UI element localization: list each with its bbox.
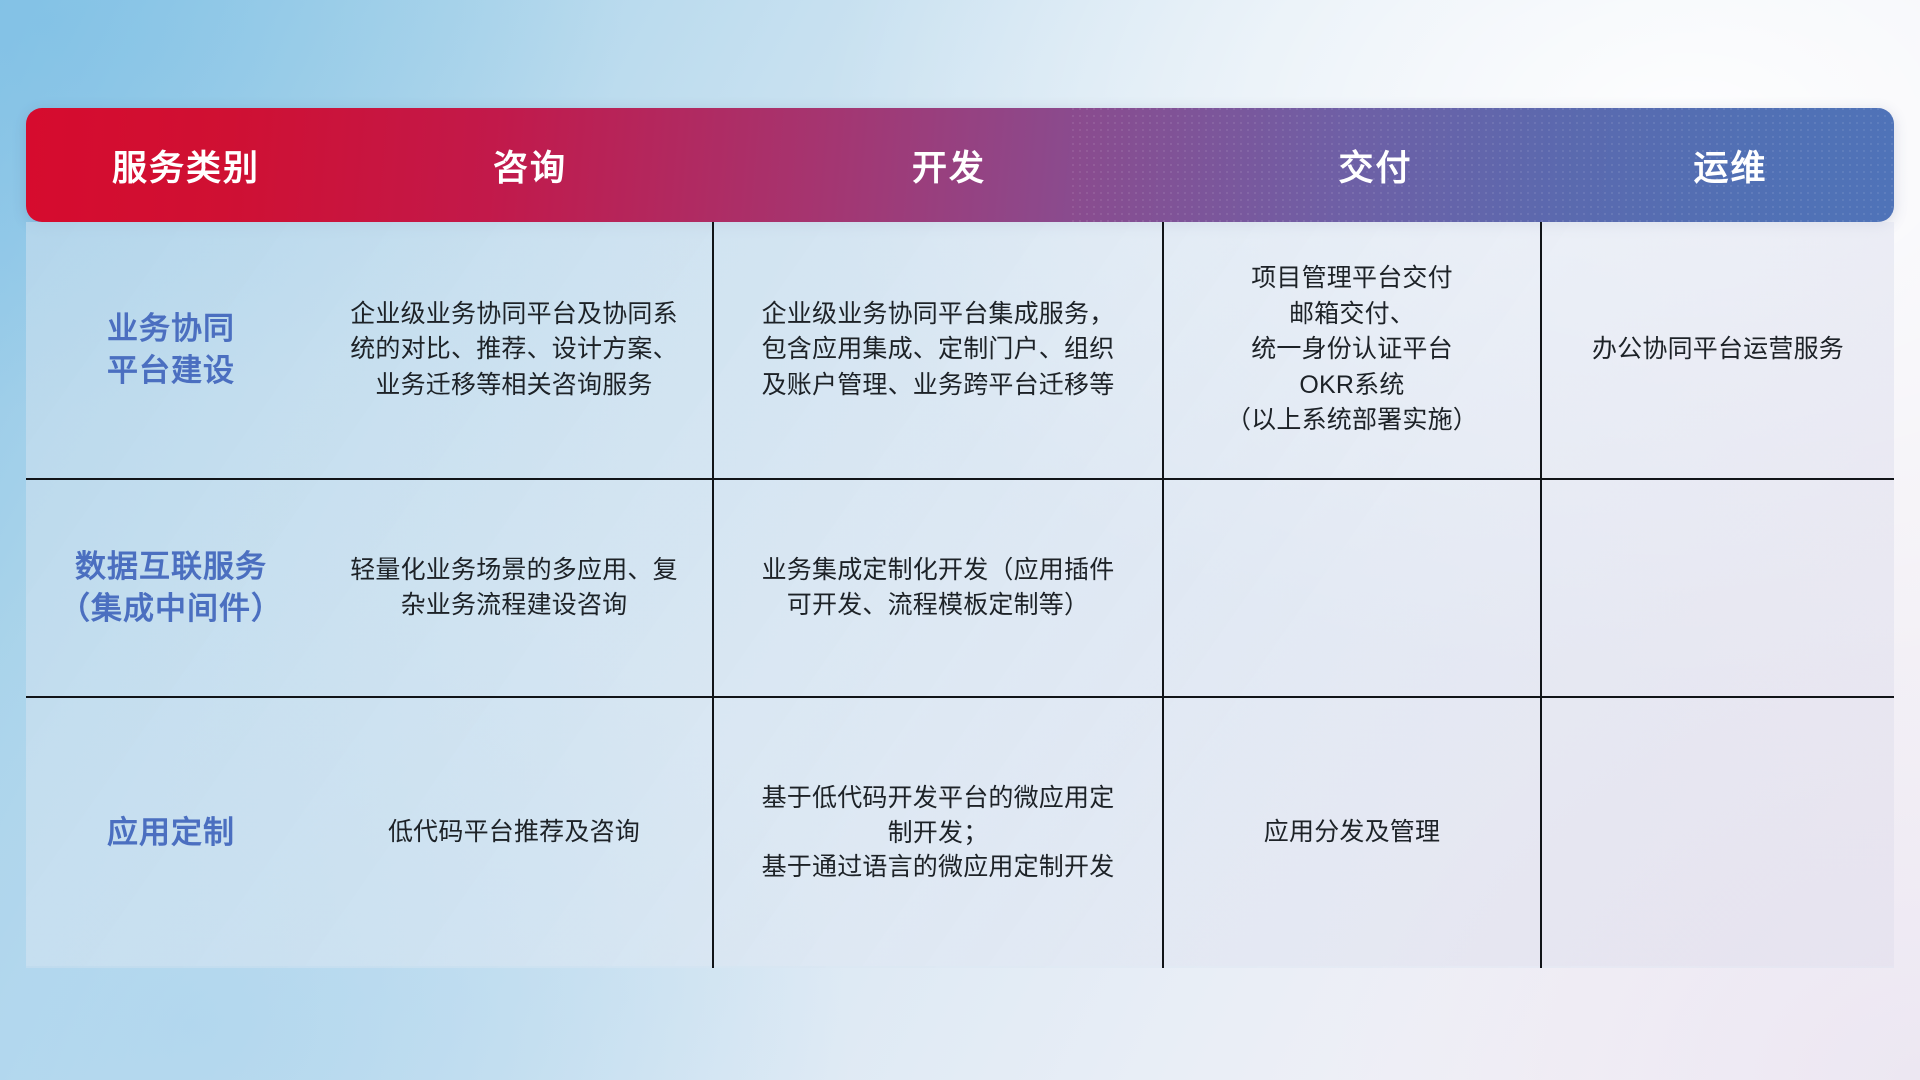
table-row: 应用定制 低代码平台推荐及咨询 基于低代码开发平台的微应用定 制开发； 基于通过… (26, 698, 1894, 968)
category-label: 应用定制 (107, 812, 235, 854)
table-body: 业务协同 平台建设 企业级业务协同平台及协同系 统的对比、推荐、设计方案、 业务… (26, 222, 1894, 968)
cell-text: 办公协同平台运营服务 (1592, 332, 1844, 368)
cell-text: 基于低代码开发平台的微应用定 制开发； 基于通过语言的微应用定制开发 (762, 781, 1115, 885)
header-cell-delivery: 交付 (1184, 140, 1567, 191)
cell-consulting-2: 轻量化业务场景的多应用、复 杂业务流程建设咨询 (316, 480, 714, 696)
header-cell-operations: 运维 (1567, 140, 1894, 191)
cell-text: 轻量化业务场景的多应用、复 杂业务流程建设咨询 (350, 553, 678, 624)
cell-operations-3 (1542, 698, 1894, 968)
cell-delivery-1: 项目管理平台交付 邮箱交付、 统一身份认证平台 OKR系统 （以上系统部署实施） (1164, 222, 1542, 478)
cell-category-2: 数据互联服务 （集成中间件） (26, 480, 316, 696)
cell-text: 企业级业务协同平台集成服务， 包含应用集成、定制门户、组织 及账户管理、业务跨平… (762, 297, 1115, 404)
cell-delivery-3: 应用分发及管理 (1164, 698, 1542, 968)
cell-development-1: 企业级业务协同平台集成服务， 包含应用集成、定制门户、组织 及账户管理、业务跨平… (714, 222, 1164, 478)
cell-text: 企业级业务协同平台及协同系 统的对比、推荐、设计方案、 业务迁移等相关咨询服务 (350, 297, 678, 404)
cell-operations-1: 办公协同平台运营服务 (1542, 222, 1894, 478)
cell-text: 应用分发及管理 (1264, 815, 1440, 851)
cell-development-2: 业务集成定制化开发（应用插件 可开发、流程模板定制等） (714, 480, 1164, 696)
cell-consulting-3: 低代码平台推荐及咨询 (316, 698, 714, 968)
table-row: 业务协同 平台建设 企业级业务协同平台及协同系 统的对比、推荐、设计方案、 业务… (26, 222, 1894, 480)
header-cell-consulting: 咨询 (346, 140, 714, 191)
cell-category-1: 业务协同 平台建设 (26, 222, 316, 478)
table-header-row: 服务类别 咨询 开发 交付 运维 (26, 108, 1894, 222)
cell-text: 业务集成定制化开发（应用插件 可开发、流程模板定制等） (762, 553, 1115, 624)
table-row: 数据互联服务 （集成中间件） 轻量化业务场景的多应用、复 杂业务流程建设咨询 业… (26, 480, 1894, 698)
cell-text: 低代码平台推荐及咨询 (388, 815, 640, 851)
category-label: 数据互联服务 （集成中间件） (59, 546, 283, 630)
category-label: 业务协同 平台建设 (107, 308, 235, 392)
cell-delivery-2 (1164, 480, 1542, 696)
header-cell-development: 开发 (714, 140, 1184, 191)
header-cell-category: 服务类别 (26, 140, 346, 191)
service-matrix-table: 服务类别 咨询 开发 交付 运维 业务协同 平台建设 企业级业务协同平台及协同系… (26, 108, 1894, 968)
cell-development-3: 基于低代码开发平台的微应用定 制开发； 基于通过语言的微应用定制开发 (714, 698, 1164, 968)
cell-text: 项目管理平台交付 邮箱交付、 统一身份认证平台 OKR系统 （以上系统部署实施） (1226, 261, 1478, 439)
cell-operations-2 (1542, 480, 1894, 696)
cell-consulting-1: 企业级业务协同平台及协同系 统的对比、推荐、设计方案、 业务迁移等相关咨询服务 (316, 222, 714, 478)
cell-category-3: 应用定制 (26, 698, 316, 968)
